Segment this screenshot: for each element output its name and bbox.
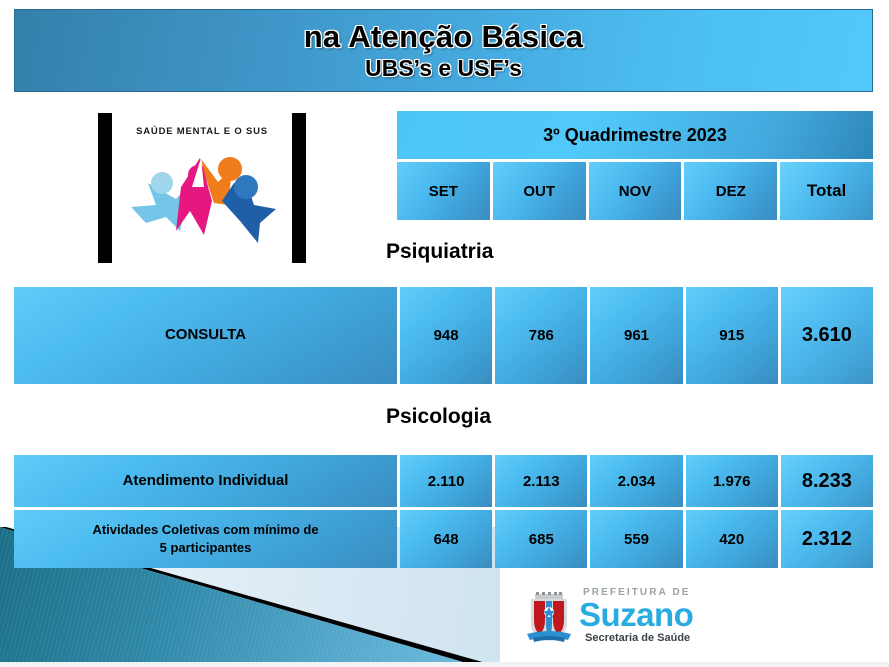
cell-atividades-total: 2.312 [781, 510, 873, 568]
cell-atendimento-total: 8.233 [781, 455, 873, 507]
coat-of-arms-icon [527, 590, 571, 646]
saude-mental-logo: SAÚDE MENTAL E O SUS [98, 113, 306, 263]
table-row: Atendimento Individual 2.110 2.113 2.034… [14, 455, 873, 507]
column-header-out: OUT [493, 162, 586, 220]
page-subtitle: UBS’s e USF’s [365, 56, 522, 80]
cell-atividades-out: 685 [495, 510, 587, 568]
row-label-line2: 5 participantes [92, 539, 318, 557]
table-row: CONSULTA 948 786 961 915 3.610 [14, 287, 873, 384]
cell-atendimento-set: 2.110 [400, 455, 492, 507]
row-label-atendimento-individual: Atendimento Individual [14, 455, 397, 507]
row-label-line1: Atividades Coletivas com mínimo de [92, 521, 318, 539]
cell-atividades-nov: 559 [590, 510, 682, 568]
column-header-nov: NOV [589, 162, 682, 220]
logo-caption: SAÚDE MENTAL E O SUS [98, 126, 306, 137]
quadrimestre-title: 3º Quadrimestre 2023 [397, 111, 873, 159]
cell-atendimento-dez: 1.976 [686, 455, 778, 507]
row-label-consulta: CONSULTA [14, 287, 397, 384]
bottom-edge [0, 662, 889, 667]
secretaria-label: Secretaria de Saúde [585, 633, 723, 644]
psicologia-table: Atendimento Individual 2.110 2.113 2.034… [14, 455, 873, 571]
quadrimestre-column-headers: SET OUT NOV DEZ Total [397, 162, 873, 220]
table-row: Atividades Coletivas com mínimo de 5 par… [14, 510, 873, 568]
cell-consulta-nov: 961 [590, 287, 682, 384]
slide-title-banner: na Atenção Básica UBS’s e USF’s [14, 9, 873, 92]
quadrimestre-header-table: 3º Quadrimestre 2023 SET OUT NOV DEZ Tot… [397, 111, 873, 220]
section-heading-psicologia: Psicologia [386, 405, 491, 429]
cell-atendimento-out: 2.113 [495, 455, 587, 507]
cell-consulta-set: 948 [400, 287, 492, 384]
row-label-atividades-coletivas: Atividades Coletivas com mínimo de 5 par… [14, 510, 397, 568]
prefeitura-suzano-logo: PREFEITURA DE Suzano Secretaria de Saúde [527, 588, 723, 650]
cell-atividades-set: 648 [400, 510, 492, 568]
column-header-total: Total [780, 162, 873, 220]
cell-consulta-out: 786 [495, 287, 587, 384]
slide-canvas: na Atenção Básica UBS’s e USF’s SAÚDE ME… [0, 0, 889, 667]
city-name: Suzano [579, 599, 723, 630]
section-heading-psiquiatria: Psiquiatria [386, 240, 493, 264]
people-figures-icon [118, 139, 286, 257]
cell-atendimento-nov: 2.034 [590, 455, 682, 507]
page-title: na Atenção Básica [304, 21, 584, 54]
cell-consulta-total: 3.610 [781, 287, 873, 384]
column-header-set: SET [397, 162, 490, 220]
column-header-dez: DEZ [684, 162, 777, 220]
suzano-wordmark: PREFEITURA DE Suzano Secretaria de Saúde [579, 588, 723, 644]
cell-atividades-dez: 420 [686, 510, 778, 568]
cell-consulta-dez: 915 [686, 287, 778, 384]
psiquiatria-table: CONSULTA 948 786 961 915 3.610 [14, 287, 873, 387]
